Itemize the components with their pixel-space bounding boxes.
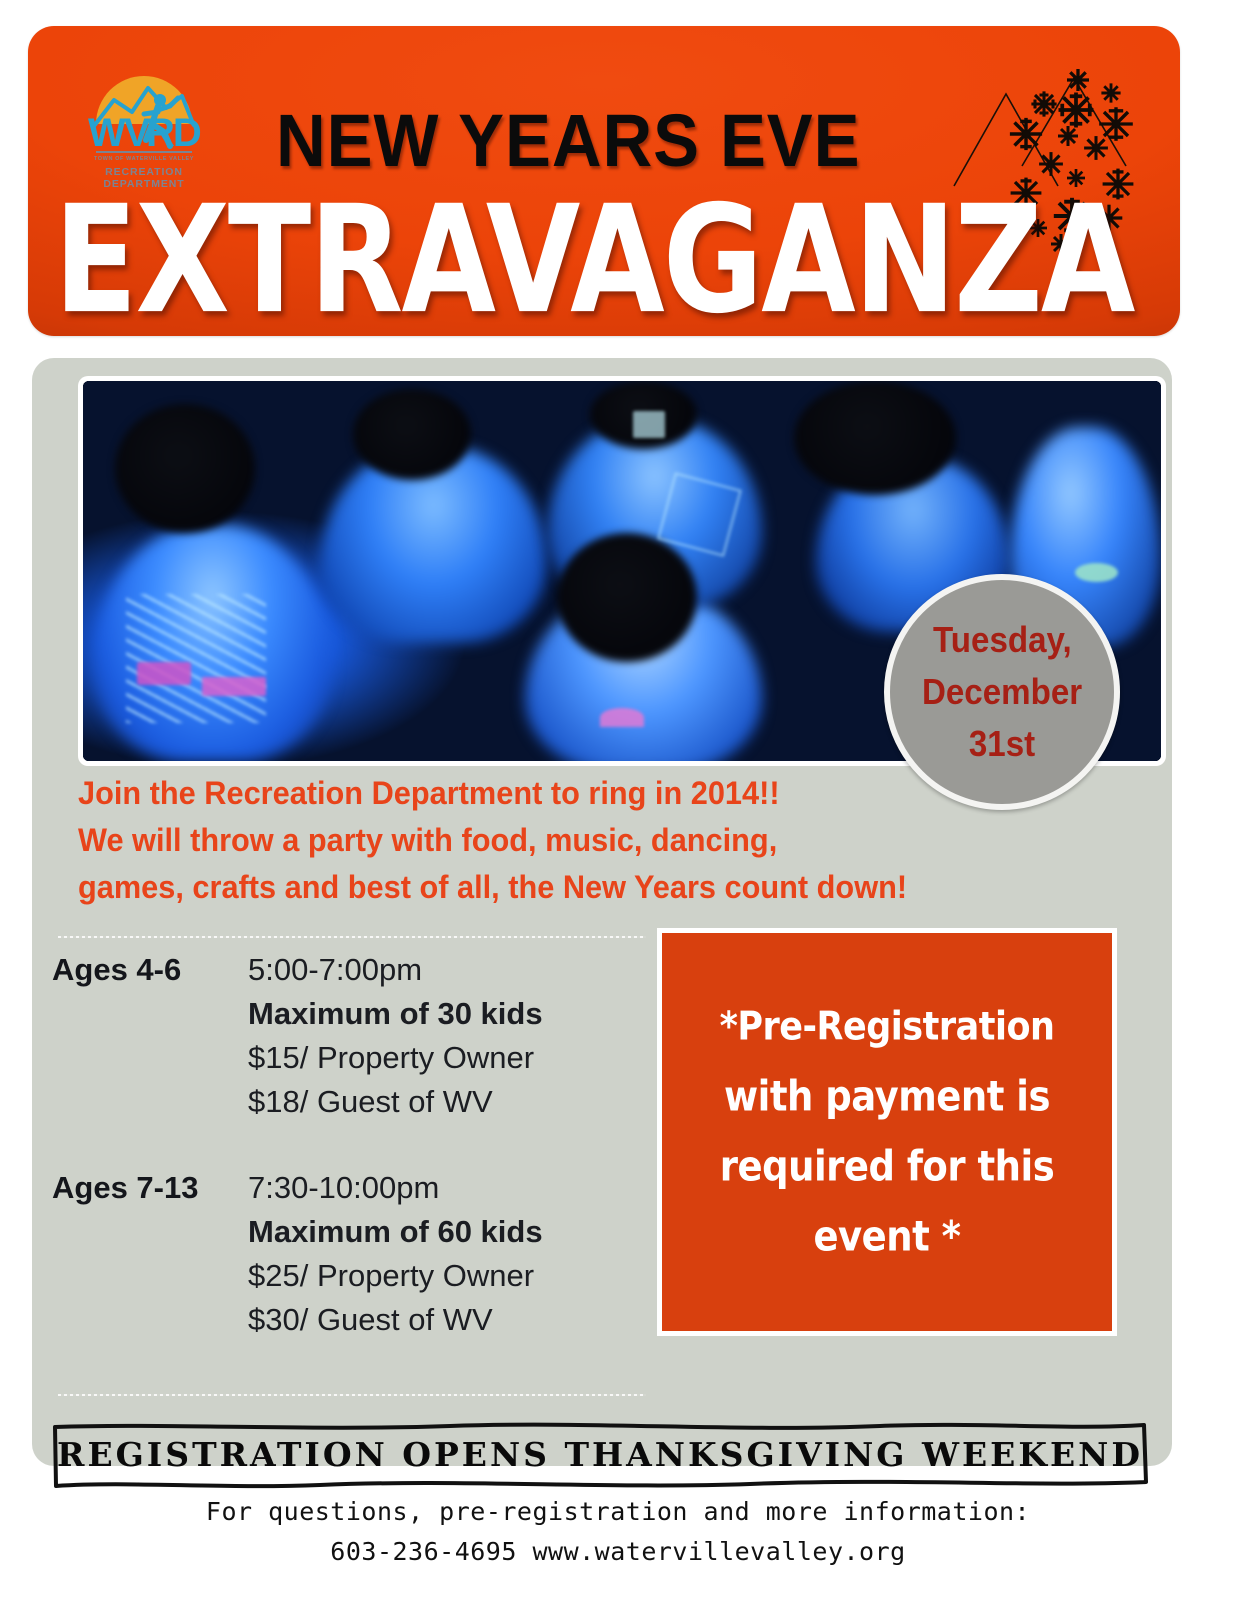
divider-top	[58, 936, 646, 938]
session-price-owner: $15/ Property Owner	[248, 1036, 543, 1080]
session-price-guest: $30/ Guest of WV	[248, 1298, 543, 1342]
divider-bottom	[58, 1394, 646, 1396]
title-new-years-eve: NEW YEARS EVE	[276, 104, 860, 178]
intro-line-2: We will throw a party with food, music, …	[78, 817, 961, 864]
flyer-page: WV RD TOWN OF WATERVILLE VALLEY RECREATI…	[0, 0, 1236, 1600]
session-block-ages-4-6: Ages 4-6 5:00-7:00pm Maximum of 30 kids …	[32, 948, 652, 1168]
session-max: Maximum of 60 kids	[248, 1210, 543, 1254]
registration-banner-text: REGISTRATION OPENS THANKSGIVING WEEKEND	[50, 1418, 1150, 1490]
prereg-callout-inner: *Pre-Registration with payment is requir…	[662, 933, 1112, 1331]
logo-tagline: TOWN OF WATERVILLE VALLEY	[74, 156, 214, 162]
intro-paragraph: Join the Recreation Department to ring i…	[78, 770, 998, 911]
session-block-ages-7-13: Ages 7-13 7:30-10:00pm Maximum of 60 kid…	[32, 1166, 652, 1386]
session-age-label: Ages 4-6	[52, 952, 181, 988]
date-line-3: 31st	[969, 718, 1035, 770]
prereg-callout-box: *Pre-Registration with payment is requir…	[657, 928, 1117, 1336]
prereg-line-1: *Pre-Registration	[720, 988, 1055, 1066]
session-time: 5:00-7:00pm	[248, 948, 543, 992]
date-line-1: Tuesday,	[933, 614, 1072, 666]
session-details: 7:30-10:00pm Maximum of 60 kids $25/ Pro…	[248, 1166, 543, 1342]
prereg-line-4: event *	[813, 1198, 960, 1276]
intro-line-1: Join the Recreation Department to ring i…	[78, 770, 961, 817]
prereg-line-3: required for this	[720, 1128, 1054, 1206]
registration-banner: REGISTRATION OPENS THANKSGIVING WEEKEND	[50, 1418, 1150, 1490]
svg-text:WV: WV	[88, 111, 151, 155]
footer-line-2: 603-236-4695 www.watervillevalley.org	[0, 1532, 1236, 1572]
session-price-guest: $18/ Guest of WV	[248, 1080, 543, 1124]
footer-contact: For questions, pre-registration and more…	[0, 1492, 1236, 1572]
session-details: 5:00-7:00pm Maximum of 30 kids $15/ Prop…	[248, 948, 543, 1124]
session-max: Maximum of 30 kids	[248, 992, 543, 1036]
session-age-label: Ages 7-13	[52, 1170, 198, 1206]
content-panel: Tuesday, December 31st Join the Recreati…	[32, 358, 1172, 1466]
session-price-owner: $25/ Property Owner	[248, 1254, 543, 1298]
title-extravaganza: EXTRAVAGANZA	[54, 186, 1140, 335]
date-line-2: December	[922, 666, 1082, 718]
logo-mark-icon: WV RD	[74, 48, 214, 158]
footer-line-1: For questions, pre-registration and more…	[0, 1492, 1236, 1532]
session-time: 7:30-10:00pm	[248, 1166, 543, 1210]
prereg-line-2: with payment is	[724, 1058, 1050, 1136]
header-banner: WV RD TOWN OF WATERVILLE VALLEY RECREATI…	[28, 26, 1180, 336]
intro-line-3: games, crafts and best of all, the New Y…	[78, 864, 961, 911]
